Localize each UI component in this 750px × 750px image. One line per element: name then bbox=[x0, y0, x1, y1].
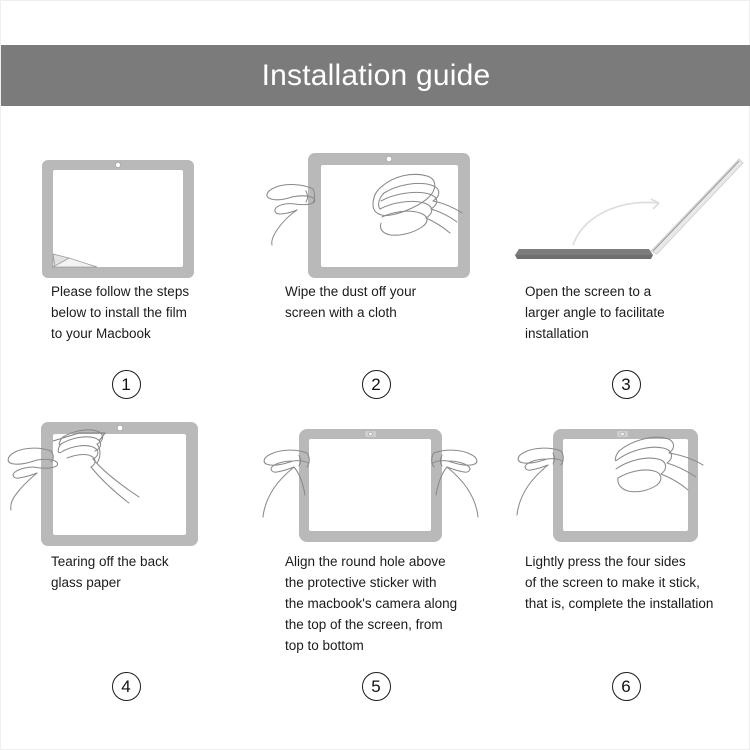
step-caption-1: Please follow the steps below to install… bbox=[51, 281, 251, 344]
page-title: Installation guide bbox=[262, 61, 491, 91]
illustration-laptop-open-angle bbox=[501, 141, 750, 281]
steps-grid: Please follow the steps below to install… bbox=[1, 133, 750, 705]
step-card-4: Tearing off the back glass paper 4 bbox=[1, 405, 251, 705]
header-band: Installation guide bbox=[1, 45, 750, 106]
step-caption-4: Tearing off the back glass paper bbox=[51, 551, 251, 593]
steps-row-2: Tearing off the back glass paper 4 bbox=[1, 405, 750, 705]
step-card-1: Please follow the steps below to install… bbox=[1, 133, 251, 405]
illustration-two-hands-aligning-film bbox=[251, 411, 501, 551]
step-card-6: Lightly press the four sides of the scre… bbox=[501, 405, 750, 705]
step-caption-2: Wipe the dust off your screen with a clo… bbox=[285, 281, 501, 323]
step-number-badge-2: 2 bbox=[362, 370, 391, 399]
step-number-badge-1: 1 bbox=[112, 370, 141, 399]
laptop-open-angle-icon bbox=[515, 159, 743, 259]
step-number-badge-3: 3 bbox=[612, 370, 641, 399]
hand-wiping-screen-with-cloth-icon bbox=[267, 153, 470, 278]
hand-pressing-screen-icon bbox=[517, 429, 703, 542]
step-caption-6: Lightly press the four sides of the scre… bbox=[525, 551, 750, 614]
installation-guide-page: Installation guide bbox=[0, 0, 750, 750]
step-badge-wrap-2: 2 bbox=[251, 370, 501, 399]
step-badge-wrap-6: 6 bbox=[501, 672, 750, 701]
step-number-badge-4: 4 bbox=[112, 672, 141, 701]
steps-row-1: Please follow the steps below to install… bbox=[1, 133, 750, 405]
illustration-hand-wiping-screen bbox=[251, 141, 501, 281]
step-card-5: Align the round hole above the protectiv… bbox=[251, 405, 501, 705]
step-number-badge-6: 6 bbox=[612, 672, 641, 701]
step-number-badge-5: 5 bbox=[362, 672, 391, 701]
step-badge-wrap-5: 5 bbox=[251, 672, 501, 701]
illustration-two-hands-peeling-film bbox=[1, 411, 251, 551]
step-card-2: Wipe the dust off your screen with a clo… bbox=[251, 133, 501, 405]
step-caption-3: Open the screen to a larger angle to fac… bbox=[525, 281, 750, 344]
step-caption-5: Align the round hole above the protectiv… bbox=[285, 551, 501, 656]
step-badge-wrap-4: 4 bbox=[1, 672, 251, 701]
step-card-3: Open the screen to a larger angle to fac… bbox=[501, 133, 750, 405]
illustration-hand-pressing-screen bbox=[501, 411, 750, 551]
two-hands-peeling-film-icon bbox=[8, 422, 198, 546]
step-badge-wrap-3: 3 bbox=[501, 370, 750, 399]
screen-with-peeling-corner-icon bbox=[42, 160, 194, 278]
two-hands-aligning-film-icon bbox=[263, 429, 478, 542]
step-badge-wrap-1: 1 bbox=[1, 370, 251, 399]
illustration-screen-with-peeling-corner bbox=[1, 141, 251, 281]
